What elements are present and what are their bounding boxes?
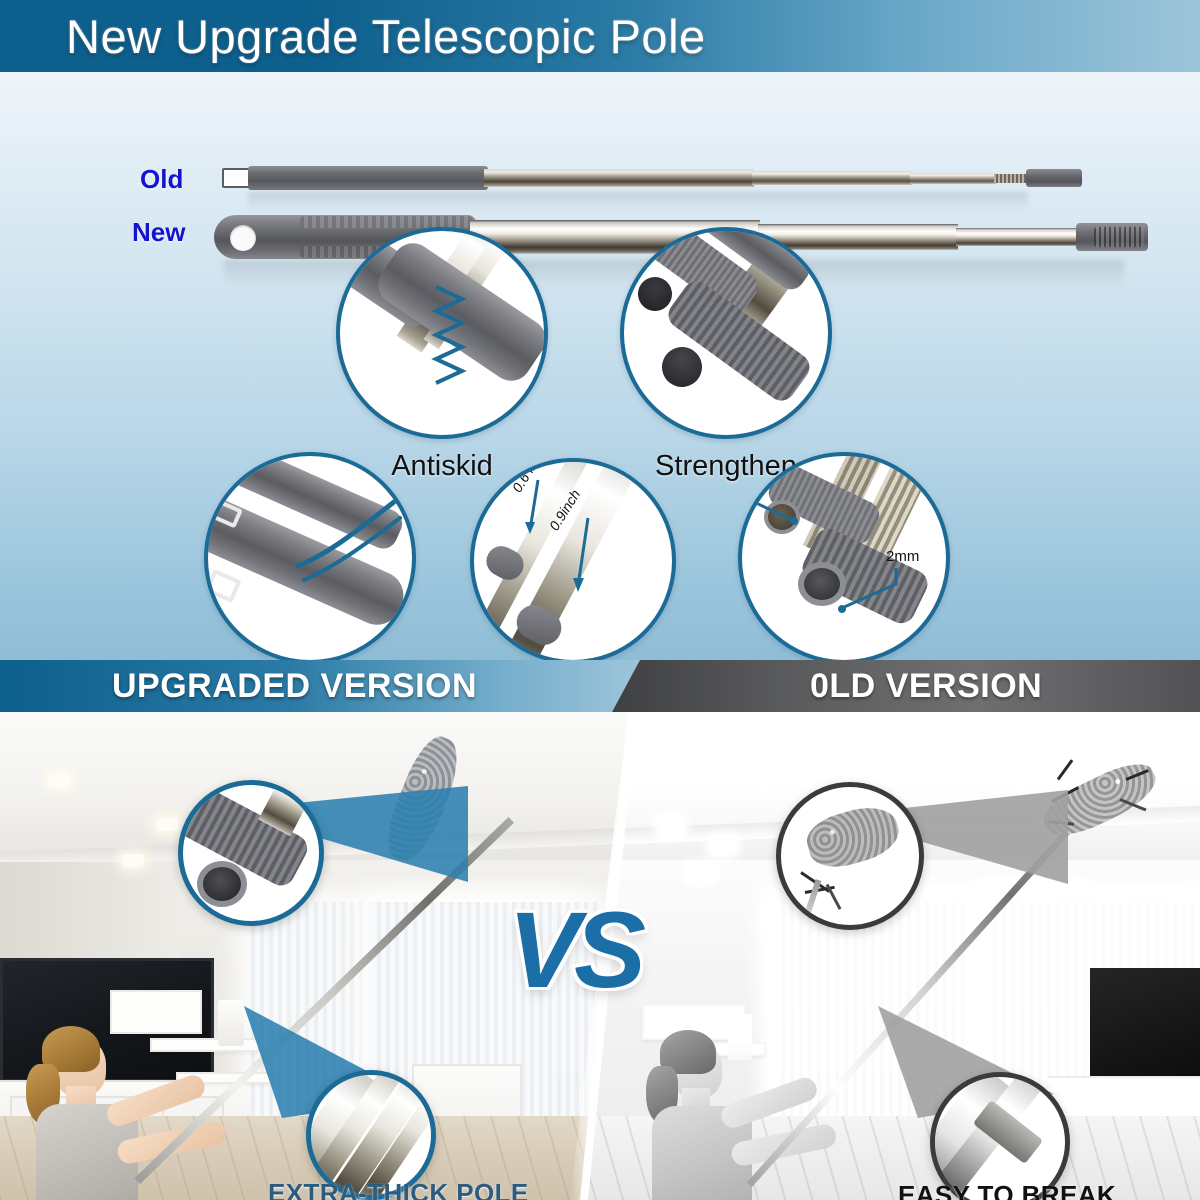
- features-panel: Old New Antiskid: [0, 72, 1200, 660]
- new-pole-label: New: [132, 217, 185, 248]
- thickness-leader-2mm-icon: [834, 562, 920, 618]
- upgraded-version-label: UPGRADED VERSION: [112, 660, 477, 712]
- version-banner: UPGRADED VERSION 0LD VERSION: [0, 660, 1200, 712]
- page-title: New Upgrade Telescopic Pole: [0, 9, 706, 64]
- thickness-leader-1mm-icon: [748, 478, 818, 530]
- header-banner: New Upgrade Telescopic Pole: [0, 0, 1200, 72]
- measurement-2mm: 2mm: [886, 548, 919, 565]
- vs-badge: VS: [508, 896, 640, 1004]
- feature-circle-ergonomics: [204, 452, 416, 660]
- feature-circle-antiskid: [336, 227, 548, 439]
- callout-caption-extra-thick-pole: EXTRA-THICK POLE: [268, 1178, 529, 1200]
- callout-circle-easy-to-break-head: [776, 782, 924, 930]
- callout-caption-easy-to-break-joint: EASY TO BREAK: [898, 1180, 1116, 1200]
- measurement-1mm: 1mm: [746, 458, 779, 475]
- zigzag-icon: [428, 283, 478, 393]
- curve-accent-icon: [294, 496, 404, 586]
- dimension-arrow-large-icon: [558, 510, 622, 598]
- feature-circle-thicken: 1mm 2mm: [738, 452, 950, 660]
- new-pole-image: [214, 215, 994, 259]
- old-version-label: 0LD VERSION: [810, 660, 1042, 712]
- old-pole-image: [222, 165, 982, 191]
- callout-circle-strong-connection: [178, 780, 324, 926]
- feature-circle-strengthen: [620, 227, 832, 439]
- infographic-page: New Upgrade Telescopic Pole Old New: [0, 0, 1200, 1200]
- feature-circle-bigger: 0.6 inch 0.9inch: [470, 458, 676, 660]
- old-pole-label: Old: [140, 164, 183, 195]
